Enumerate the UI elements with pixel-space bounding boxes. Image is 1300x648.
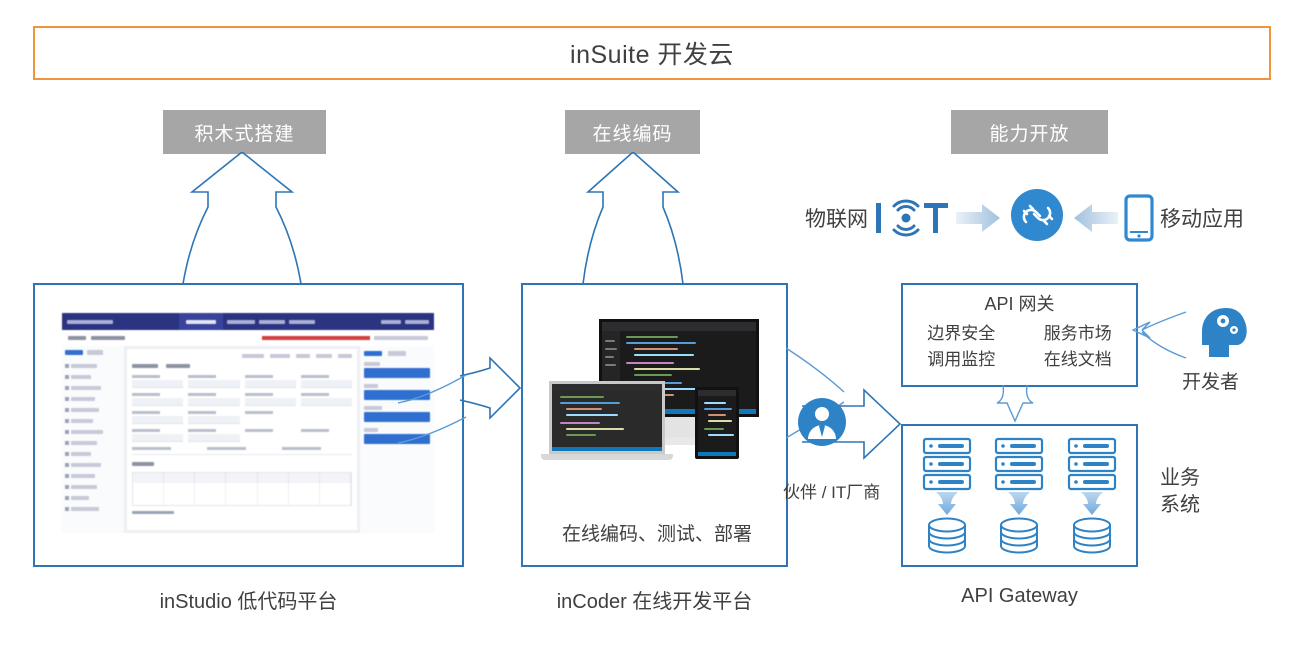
- api-feature-call-monitoring: 调用监控: [903, 345, 1020, 370]
- smartphone-icon: [1124, 194, 1154, 242]
- api-gateway-caption: API Gateway: [901, 585, 1138, 608]
- integration-hub: [1008, 186, 1066, 249]
- partner-badge: [795, 395, 849, 454]
- up-arrow-incoder-icon: [558, 152, 758, 287]
- wifi-signal-icon: [874, 197, 950, 239]
- plug-connector-icon: [1008, 186, 1066, 244]
- gateway-to-biz-arrow-icon: [985, 385, 1045, 427]
- arrow-right-iot-icon: [956, 201, 1002, 235]
- business-systems-grid: [903, 426, 1136, 565]
- channel-row: 物联网: [805, 186, 1244, 249]
- tablet-icon: [695, 387, 739, 459]
- api-feature-service-market: 服务市场: [1020, 319, 1137, 344]
- instudio-form: [127, 349, 357, 530]
- business-systems-label-line1: 业务: [1160, 465, 1200, 492]
- incoder-devices: 在线编码、测试、部署: [545, 319, 769, 479]
- api-feature-boundary-security: 边界安全: [903, 319, 1020, 344]
- server-stack-database-icon: [920, 436, 974, 556]
- api-gateway-panel[interactable]: API 网关 边界安全 服务市场 调用监控 在线文档: [901, 283, 1138, 387]
- instudio-flow-lines-icon: [398, 355, 468, 465]
- api-gateway-title: API 网关: [903, 290, 1136, 316]
- biz-node: [992, 436, 1046, 556]
- developer-arrow-icon: [1128, 310, 1190, 370]
- person-tie-icon: [795, 395, 849, 449]
- banner-title: inSuite 开发云: [570, 35, 734, 71]
- api-gateway-features: 边界安全 服务市场 调用监控 在线文档: [903, 319, 1136, 370]
- mobile-label: 移动应用: [1160, 203, 1244, 233]
- business-systems-label-line2: 系统: [1160, 492, 1200, 519]
- tag-capability-open-label: 能力开放: [989, 119, 1069, 146]
- instudio-breadcrumb: [62, 330, 434, 346]
- head-gear-icon: [1196, 305, 1252, 363]
- instudio-tree: [62, 346, 124, 533]
- up-arrow-instudio-icon: [150, 152, 400, 287]
- instudio-caption: inStudio 低代码平台: [33, 585, 464, 614]
- biz-node: [1065, 436, 1119, 556]
- tag-block-building-label: 积木式搭建: [194, 119, 294, 146]
- developer-badge: [1196, 305, 1252, 368]
- suite-banner: inSuite 开发云: [33, 26, 1271, 80]
- server-stack-database-icon: [1065, 436, 1119, 556]
- iot-label: 物联网: [805, 203, 868, 233]
- business-systems-panel[interactable]: [901, 424, 1138, 567]
- server-stack-database-icon: [992, 436, 1046, 556]
- iot-logo: [874, 197, 950, 239]
- diagram-canvas: inSuite 开发云 积木式搭建 在线编码 能力开放 物联网: [0, 0, 1300, 648]
- business-systems-label: 业务 系统: [1160, 465, 1200, 519]
- incoder-panel[interactable]: 在线编码、测试、部署: [521, 283, 788, 567]
- incoder-caption: inCoder 在线开发平台: [521, 585, 788, 614]
- tag-block-building[interactable]: 积木式搭建: [163, 110, 326, 154]
- laptop-base: [541, 454, 673, 460]
- instudio-table: [132, 472, 352, 506]
- incoder-inner-label: 在线编码、测试、部署: [545, 519, 769, 546]
- api-feature-online-docs: 在线文档: [1020, 345, 1137, 370]
- instudio-to-incoder-arrow-icon: [460, 350, 530, 470]
- tag-online-coding-label: 在线编码: [592, 119, 672, 146]
- laptop-icon: [549, 381, 665, 454]
- partner-label: 伙伴 / IT厂商: [783, 478, 880, 503]
- biz-node: [920, 436, 974, 556]
- arrow-left-mobile-icon: [1072, 201, 1118, 235]
- instudio-screenshot: [62, 313, 434, 533]
- instudio-navbar: [62, 313, 434, 330]
- developer-label: 开发者: [1182, 370, 1239, 396]
- tag-capability-open[interactable]: 能力开放: [951, 110, 1108, 154]
- tag-online-coding[interactable]: 在线编码: [565, 110, 700, 154]
